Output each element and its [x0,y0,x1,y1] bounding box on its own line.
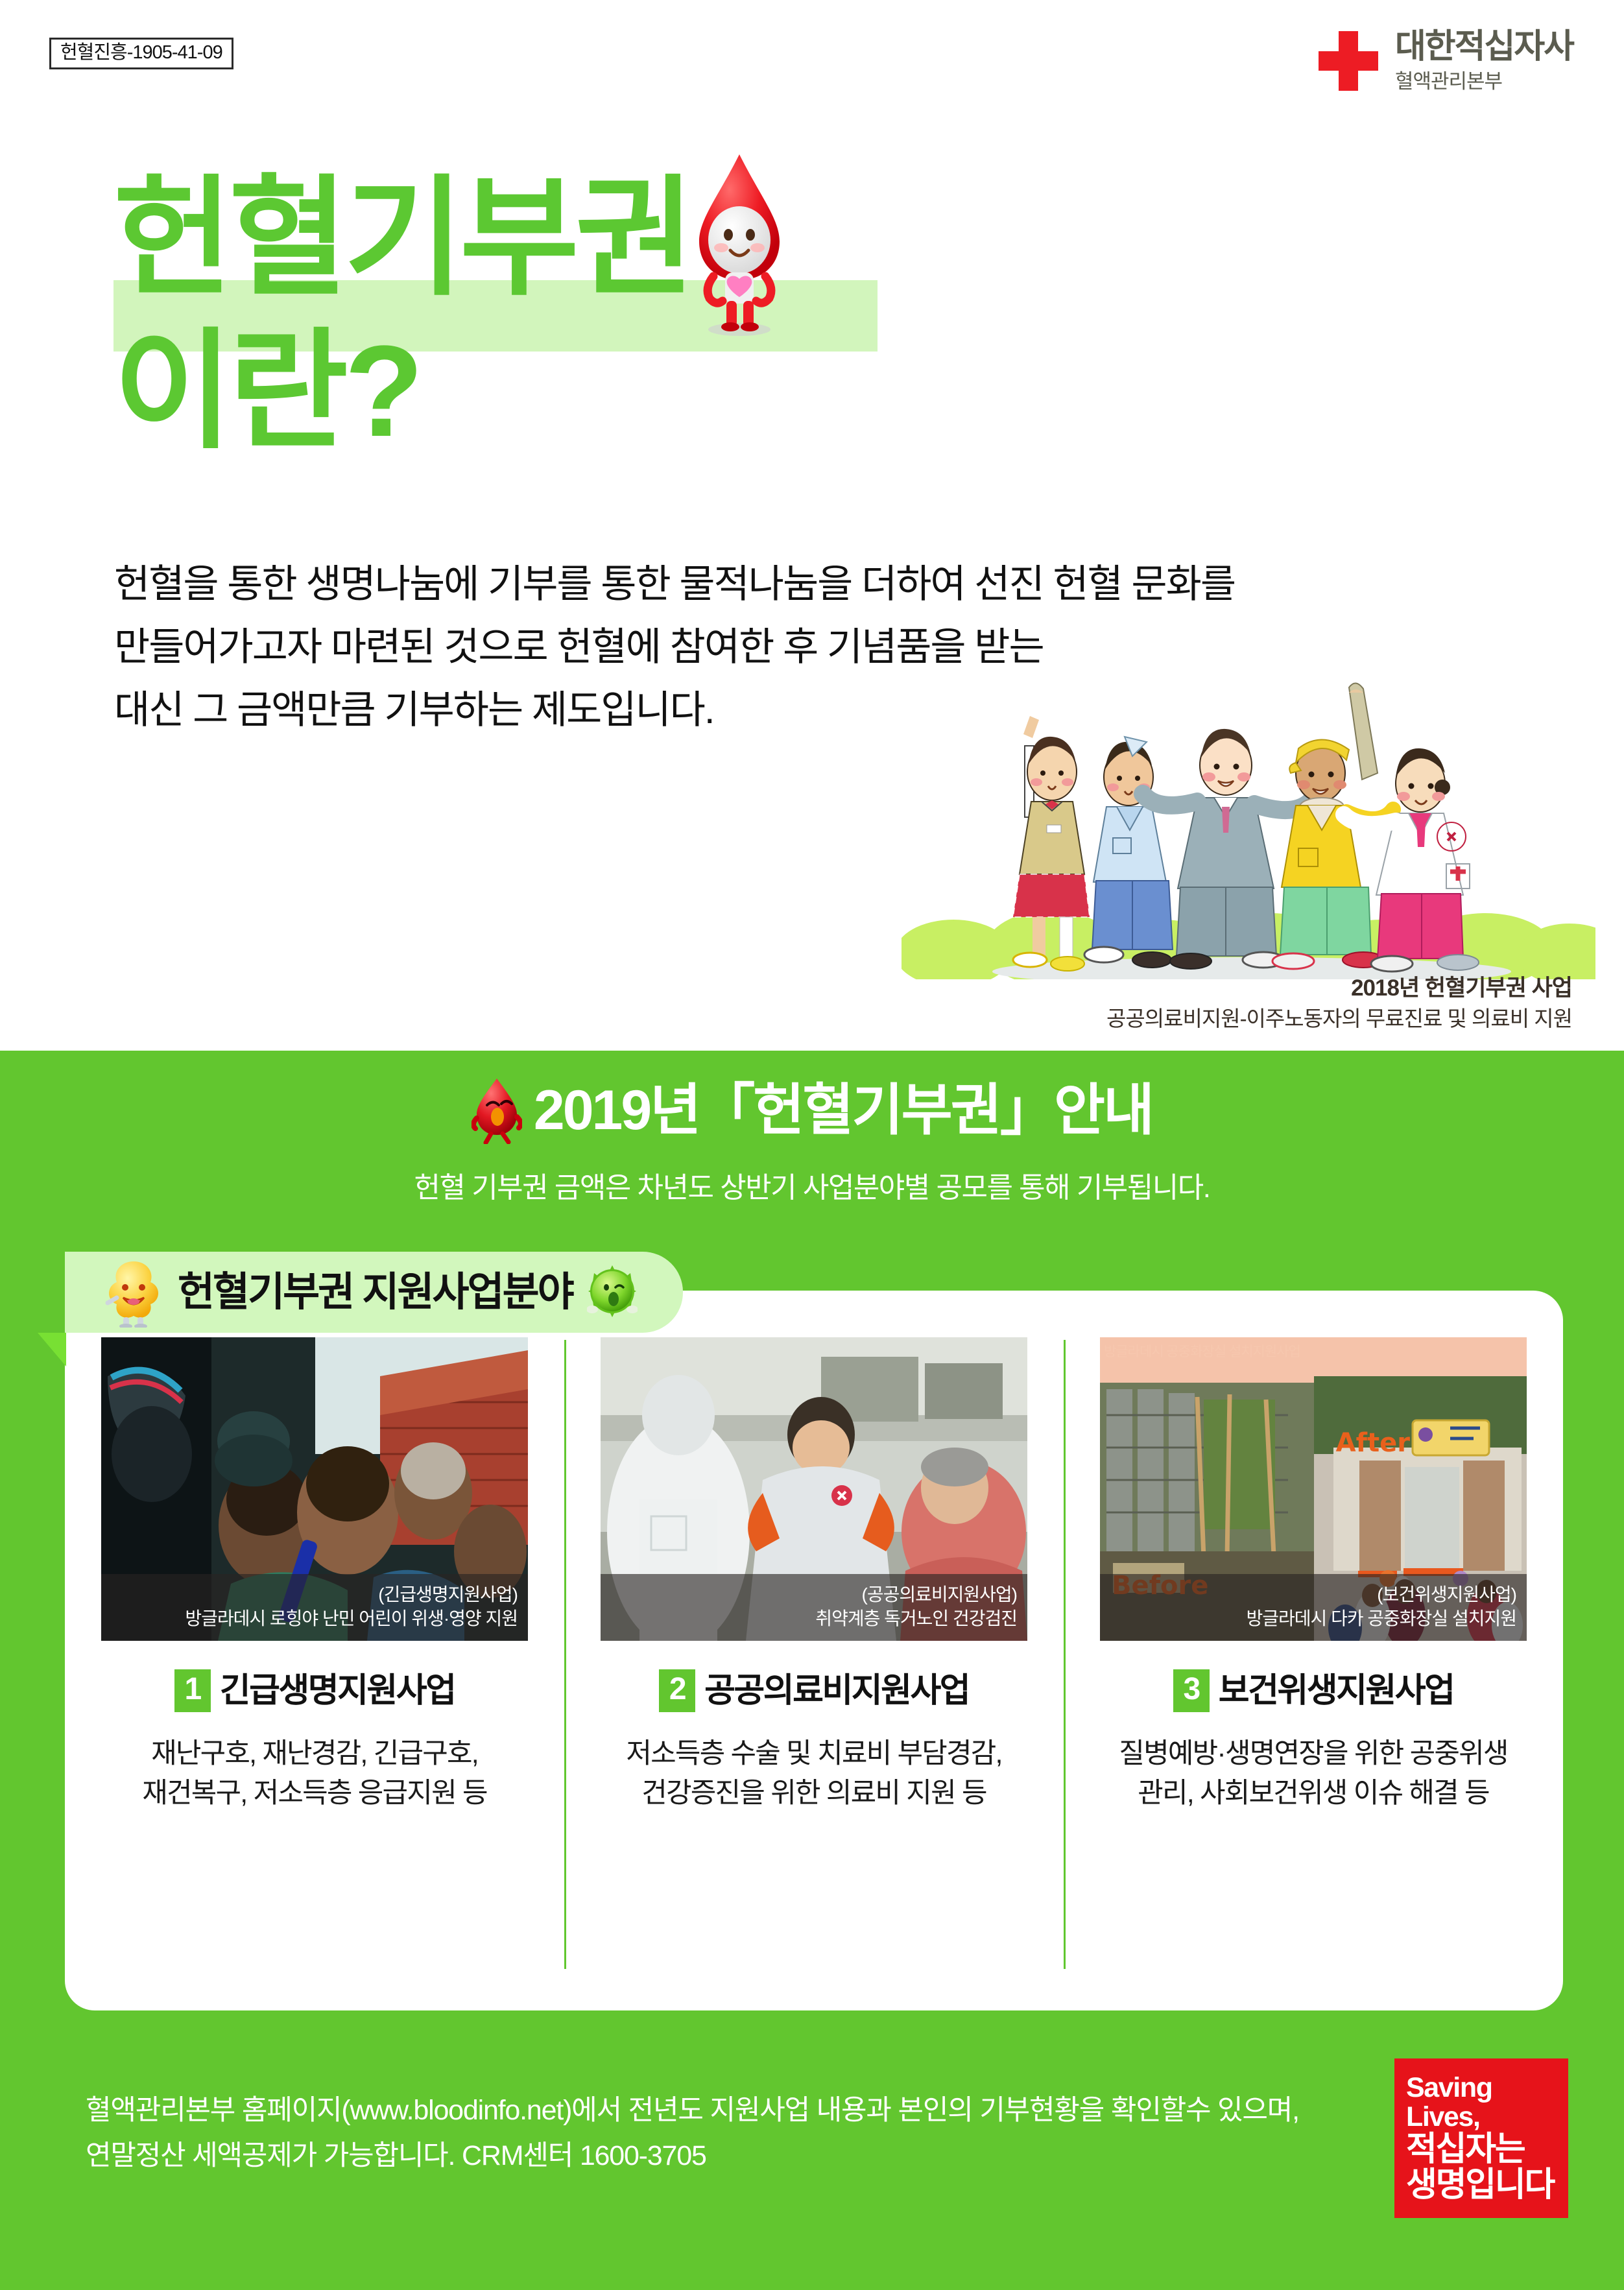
page-title-line2: 이란? [113,315,1216,468]
program-number-2: 2 [659,1669,695,1712]
programs-card: (긴급생명지원사업) 방글라데시 로힝야 난민 어린이 위생·영양 지원 1긴급… [65,1291,1563,2010]
intro-line-1: 헌혈을 통한 생명나눔에 기부를 통한 물적나눔을 더하여 선진 헌혈 문화를 [114,553,1385,615]
section-title: 2019년「헌혈기부권」안내 [534,1082,1152,1138]
footer-note: 혈액관리본부 홈페이지(www.bloodinfo.net)에서 전년도 지원사… [86,2088,1383,2178]
logo-text-block: 대한적십자사 혈액관리본부 [1395,30,1573,91]
program-title-text-3: 보건위생지원사업 [1219,1672,1454,1710]
program-title-text-1: 긴급생명지원사업 [220,1672,455,1710]
program-column-2: (공공의료비지원사업) 취약계층 독거노인 건강검진 2공공의료비지원사업 저소… [564,1291,1064,2010]
red-cross-logo: 대한적십자사 혈액관리본부 [1319,30,1573,91]
poster-root: 헌혈진흥-1905-41-09 대한적십자사 혈액관리본부 헌혈기부권 이란? [0,0,1624,2290]
program-desc-1: 재난구호, 재난경감, 긴급구호, 재건복구, 저소득층 응급지원 등 [65,1734,564,1813]
blood-drop-mascot-icon [687,149,791,337]
programs-row: (긴급생명지원사업) 방글라데시 로힝야 난민 어린이 위생·영양 지원 1긴급… [65,1291,1563,2010]
photo-3-after-label: After [1336,1428,1410,1458]
program-photo-caption-1: (긴급생명지원사업) 방글라데시 로힝야 난민 어린이 위생·영양 지원 [101,1574,528,1641]
organization-name: 대한적십자사 [1395,30,1573,64]
program-desc-3: 질병예방·생명연장을 위한 공중위생 관리, 사회보건위생 이슈 해결 등 [1064,1734,1563,1813]
page-title-line1: 헌혈기부권 [113,162,1216,315]
program-column-1: (긴급생명지원사업) 방글라데시 로힝야 난민 어린이 위생·영양 지원 1긴급… [65,1291,564,2010]
document-code: 헌혈진흥-1905-41-09 [49,38,233,69]
program-photo-caption-2: (공공의료비지원사업) 취약계층 독거노인 건강검진 [601,1574,1027,1641]
program-desc-line2-1: 재건복구, 저소득층 응급지원 등 [65,1774,564,1813]
footer-line-1: 혈액관리본부 홈페이지(www.bloodinfo.net)에서 전년도 지원사… [86,2088,1383,2134]
illustration-caption: 2018년 헌혈기부권 사업 공공의료비지원-이주노동자의 무료진료 및 의료비… [1106,973,1572,1034]
program-title-2: 2공공의료비지원사업 [564,1669,1064,1712]
caption-program-name-1: (긴급생명지원사업) [101,1583,518,1606]
caption-program-name-3: (보건위생지원사업) [1100,1583,1516,1606]
slogan-korean-line1: 적십자는 [1406,2132,1568,2167]
program-desc-line2-3: 관리, 사회보건위생 이슈 해결 등 [1064,1774,1563,1813]
program-title-1: 1긴급생명지원사업 [65,1669,564,1712]
caption-program-name-2: (공공의료비지원사업) [601,1583,1017,1606]
section-title-row: 2019년「헌혈기부권」안내 [0,1077,1624,1144]
support-fields-tab[interactable]: 헌혈기부권 지원사업분야 [65,1252,683,1333]
organization-division: 혈액관리본부 [1395,71,1573,91]
caption-program-detail-2: 취약계층 독거노인 건강검진 [601,1607,1017,1630]
program-desc-2: 저소득층 수술 및 치료비 부담경감, 건강증진을 위한 의료비 지원 등 [564,1734,1064,1813]
yellow-character-megaphone-icon [104,1258,163,1328]
tab-label-text: 헌혈기부권 지원사업분야 [178,1272,573,1313]
program-column-3: 방글라데시 공중화장실 설치지원사업 Before After (보건위생지원사… [1064,1291,1563,2010]
caption-program-detail-3: 방글라데시 다카 공중화장실 설치지원 [1100,1607,1516,1630]
program-title-text-2: 공공의료비지원사업 [704,1672,969,1710]
footer-line-2: 연말정산 세액공제가 가능합니다. CRM센터 1600-3705 [86,2134,1383,2179]
caption-program-detail-1: 방글라데시 로힝야 난민 어린이 위생·영양 지원 [101,1607,518,1630]
program-photo-1: (긴급생명지원사업) 방글라데시 로힝야 난민 어린이 위생·영양 지원 [101,1337,528,1641]
people-group-illustration [902,674,1595,979]
photo-3-banner-text: 방글라데시 공중화장실 설치지원사업 [1100,1337,1527,1361]
slogan-korean-line2: 생명입니다 [1406,2167,1568,2203]
section-subtitle: 헌혈 기부권 금액은 차년도 상반기 사업분야별 공모를 통해 기부됩니다. [0,1164,1624,1206]
red-drop-character-icon [472,1077,522,1144]
program-photo-2: (공공의료비지원사업) 취약계층 독거노인 건강검진 [601,1337,1027,1641]
red-cross-icon [1319,31,1378,91]
program-photo-caption-3: (보건위생지원사업) 방글라데시 다카 공중화장실 설치지원 [1100,1574,1527,1641]
program-number-1: 1 [174,1669,211,1712]
program-desc-line1-1: 재난구호, 재난경감, 긴급구호, [65,1734,564,1774]
program-photo-3: 방글라데시 공중화장실 설치지원사업 Before After (보건위생지원사… [1100,1337,1527,1641]
illustration-caption-line1: 2018년 헌혈기부권 사업 [1106,973,1572,1004]
hero-title-block: 헌혈기부권 이란? [113,162,1216,468]
green-spiky-character-icon [587,1263,638,1322]
green-section: 2019년「헌혈기부권」안내 헌혈 기부권 금액은 차년도 상반기 사업분야별 … [0,1051,1624,2290]
program-desc-line2-2: 건강증진을 위한 의료비 지원 등 [564,1774,1064,1813]
program-desc-line1-2: 저소득층 수술 및 치료비 부담경감, [564,1734,1064,1774]
program-title-3: 3보건위생지원사업 [1064,1669,1563,1712]
illustration-caption-line2: 공공의료비지원-이주노동자의 무료진료 및 의료비 지원 [1106,1004,1572,1034]
tab-fold-decoration [38,1333,66,1366]
intro-line-2: 만들어가고자 마련된 것으로 헌혈에 참여한 후 기념품을 받는 [114,615,1385,678]
slogan-box: Saving Lives, 적십자는 생명입니다 [1394,2058,1568,2218]
slogan-english: Saving Lives, [1406,2073,1568,2132]
program-desc-line1-3: 질병예방·생명연장을 위한 공중위생 [1064,1734,1563,1774]
program-number-3: 3 [1173,1669,1210,1712]
